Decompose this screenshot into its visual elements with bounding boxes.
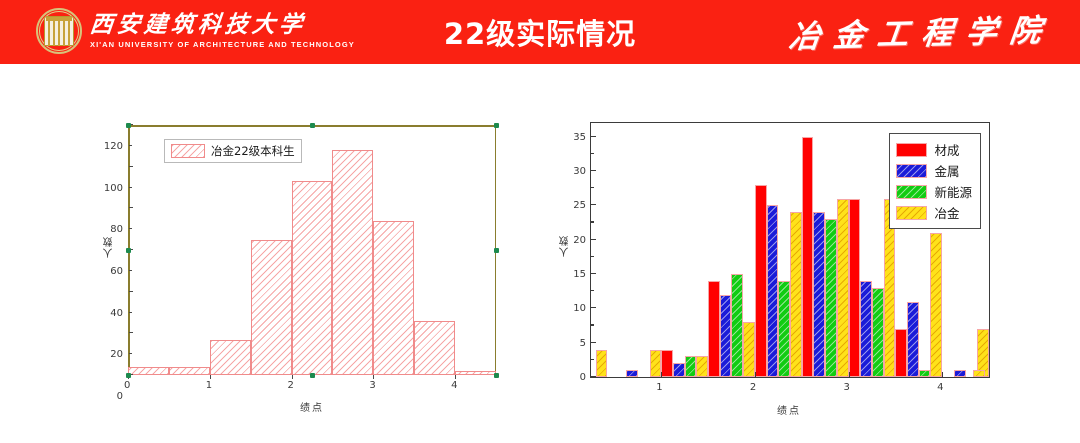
left-chart-y-tick-label: 20 bbox=[110, 349, 123, 360]
left-chart-y-tick bbox=[129, 166, 133, 167]
right-chart-legend-item: 材成 bbox=[896, 140, 972, 159]
right-chart-bar bbox=[743, 322, 755, 377]
left-chart-bar bbox=[455, 371, 496, 375]
right-chart-bar bbox=[973, 370, 985, 377]
right-chart-y-tick bbox=[591, 136, 596, 137]
right-chart-bar bbox=[837, 199, 849, 377]
right-chart-legend-item: 冶金 bbox=[896, 203, 972, 222]
chart-selection-handle[interactable] bbox=[310, 123, 315, 128]
right-chart-y-tick-label: 35 bbox=[570, 132, 586, 143]
left-histogram-chart: 人数 冶金22级本科生 绩点 02040608010012001234 bbox=[100, 110, 510, 410]
left-chart-x-tick-label: 4 bbox=[451, 380, 457, 391]
right-chart-x-tick-label: 2 bbox=[750, 382, 756, 393]
right-chart-x-tick bbox=[942, 372, 943, 377]
left-chart-y-minor-tick bbox=[129, 187, 132, 188]
left-chart-y-minor-tick bbox=[129, 270, 132, 271]
right-chart-y-minor-tick bbox=[591, 290, 594, 291]
left-chart-y-tick-label: 60 bbox=[110, 266, 123, 277]
right-chart-bar bbox=[708, 281, 720, 377]
university-name-cn: 西安建筑科技大学 bbox=[89, 13, 356, 36]
right-chart-bar bbox=[802, 137, 814, 377]
left-chart-bar bbox=[292, 181, 333, 375]
left-chart-y-tick-label: 40 bbox=[110, 308, 123, 319]
right-chart-legend: 材成金属新能源冶金 bbox=[889, 133, 981, 229]
right-chart-bar bbox=[954, 370, 966, 377]
right-chart-bar bbox=[813, 212, 825, 377]
right-chart-bar bbox=[720, 295, 732, 377]
left-chart-x-tick bbox=[455, 375, 456, 379]
left-chart-y-tick bbox=[129, 207, 133, 208]
right-chart-y-minor-tick bbox=[591, 256, 594, 257]
left-chart-x-tick-label: 0 bbox=[124, 380, 130, 391]
right-chart-y-tick-label: 15 bbox=[570, 269, 586, 280]
left-chart-y-tick-label: 120 bbox=[104, 141, 123, 152]
left-chart-y-minor-tick bbox=[129, 145, 132, 146]
right-chart-bar bbox=[731, 274, 743, 377]
left-chart-x-tick bbox=[210, 375, 211, 379]
right-chart-bar bbox=[661, 350, 673, 377]
right-chart-y-tick bbox=[591, 170, 596, 171]
right-chart-x-tick-label: 1 bbox=[656, 382, 662, 393]
left-chart-x-tick-label: 2 bbox=[288, 380, 294, 391]
university-logo: 西安建筑科技大学 XI'AN UNIVERSITY OF ARCHITECTUR… bbox=[36, 8, 355, 54]
right-chart-x-tick bbox=[661, 372, 662, 377]
left-chart-x-tick-label: 3 bbox=[369, 380, 375, 391]
left-chart-bar bbox=[251, 240, 292, 375]
left-chart-bar bbox=[128, 367, 169, 375]
right-chart-plot-area: 材成金属新能源冶金 bbox=[590, 122, 990, 378]
left-chart-bar bbox=[414, 321, 455, 375]
right-chart-legend-swatch bbox=[896, 185, 927, 199]
right-chart-bar bbox=[825, 219, 837, 377]
right-chart-x-axis-label: 绩点 bbox=[590, 402, 988, 417]
right-chart-legend-label: 新能源 bbox=[934, 182, 972, 201]
chart-selection-handle[interactable] bbox=[494, 248, 499, 253]
left-chart-y-minor-tick bbox=[129, 228, 132, 229]
right-chart-bar bbox=[650, 350, 662, 377]
right-chart-bar bbox=[919, 370, 931, 377]
right-chart-legend-label: 材成 bbox=[934, 140, 959, 159]
right-chart-y-minor-tick bbox=[591, 324, 594, 325]
right-chart-y-minor-tick bbox=[591, 153, 594, 154]
left-chart-y-tick-label: 80 bbox=[110, 224, 123, 235]
left-chart-y-tick-label: 100 bbox=[104, 183, 123, 194]
right-chart-bar bbox=[767, 205, 779, 377]
chart-selection-handle[interactable] bbox=[310, 373, 315, 378]
left-chart-x-tick-label: 1 bbox=[206, 380, 212, 391]
right-chart-y-tick-label: 30 bbox=[570, 166, 586, 177]
right-chart-legend-item: 金属 bbox=[896, 161, 972, 180]
right-chart-y-minor-tick bbox=[591, 359, 594, 360]
left-chart-legend: 冶金22级本科生 bbox=[164, 139, 302, 163]
right-chart-bar bbox=[849, 199, 861, 377]
right-chart-legend-swatch bbox=[896, 164, 927, 178]
right-chart-bar bbox=[596, 350, 608, 377]
right-chart-bar bbox=[860, 281, 872, 377]
right-chart-bar bbox=[673, 363, 685, 377]
left-chart-x-tick bbox=[373, 375, 374, 379]
left-chart-x-axis-label: 绩点 bbox=[128, 399, 496, 414]
right-chart-y-minor-tick bbox=[591, 187, 594, 188]
right-chart-bar bbox=[930, 233, 942, 377]
right-chart-y-tick-label: 5 bbox=[570, 338, 586, 349]
left-chart-bar bbox=[332, 150, 373, 375]
left-chart-y-tick-label: 0 bbox=[117, 391, 123, 402]
right-chart-legend-label: 冶金 bbox=[934, 203, 959, 222]
right-chart-y-tick bbox=[591, 376, 596, 377]
right-chart-bar bbox=[907, 302, 919, 378]
chart-selection-handle[interactable] bbox=[126, 123, 131, 128]
right-chart-y-tick bbox=[591, 342, 596, 343]
right-chart-y-minor-tick bbox=[591, 221, 594, 222]
crest-building-icon bbox=[44, 16, 74, 46]
university-crest-icon bbox=[36, 8, 82, 54]
right-chart-bar bbox=[790, 212, 802, 377]
right-chart-legend-label: 金属 bbox=[934, 161, 959, 180]
right-chart-y-tick bbox=[591, 273, 596, 274]
left-chart-legend-swatch bbox=[171, 144, 205, 158]
right-chart-bar bbox=[685, 356, 697, 377]
left-chart-y-tick bbox=[129, 291, 133, 292]
left-chart-plot-area: 冶金22级本科生 bbox=[128, 125, 496, 375]
right-chart-y-tick-label: 20 bbox=[570, 235, 586, 246]
left-chart-y-axis-label: 人数 bbox=[102, 236, 117, 258]
right-chart-y-tick-label: 25 bbox=[570, 200, 586, 211]
right-chart-bar bbox=[778, 281, 790, 377]
right-chart-y-tick-label: 10 bbox=[570, 303, 586, 314]
right-chart-y-tick bbox=[591, 307, 596, 308]
university-name-en: XI'AN UNIVERSITY OF ARCHITECTURE AND TEC… bbox=[90, 41, 355, 49]
right-chart-legend-swatch bbox=[896, 206, 927, 220]
right-chart-bar bbox=[895, 329, 907, 377]
right-chart-y-tick-label: 0 bbox=[570, 372, 586, 383]
chart-selection-handle[interactable] bbox=[494, 123, 499, 128]
right-chart-bar bbox=[755, 185, 767, 377]
chart-selection-handle[interactable] bbox=[494, 373, 499, 378]
left-chart-y-minor-tick bbox=[129, 312, 132, 313]
left-chart-bar bbox=[210, 340, 251, 375]
right-chart-x-tick-label: 4 bbox=[937, 382, 943, 393]
school-name: 冶金工程学院 bbox=[787, 5, 1057, 57]
right-chart-bar bbox=[872, 288, 884, 377]
chart-selection-handle[interactable] bbox=[126, 373, 131, 378]
right-chart-bar bbox=[626, 370, 638, 377]
left-chart-x-tick bbox=[292, 375, 293, 379]
right-chart-y-tick bbox=[591, 239, 596, 240]
left-chart-bar bbox=[169, 367, 210, 375]
right-chart-x-tick-label: 3 bbox=[844, 382, 850, 393]
left-chart-y-tick bbox=[129, 332, 133, 333]
right-chart-legend-swatch bbox=[896, 143, 927, 157]
university-name-block: 西安建筑科技大学 XI'AN UNIVERSITY OF ARCHITECTUR… bbox=[90, 13, 355, 49]
right-chart-y-tick bbox=[591, 204, 596, 205]
chart-selection-handle[interactable] bbox=[126, 248, 131, 253]
right-chart-x-tick bbox=[755, 372, 756, 377]
left-chart-legend-label: 冶金22级本科生 bbox=[211, 143, 295, 159]
right-chart-legend-item: 新能源 bbox=[896, 182, 972, 201]
right-chart-x-tick bbox=[849, 372, 850, 377]
header-banner: 西安建筑科技大学 XI'AN UNIVERSITY OF ARCHITECTUR… bbox=[0, 0, 1080, 64]
left-chart-bar bbox=[373, 221, 414, 375]
left-chart-y-minor-tick bbox=[129, 353, 132, 354]
right-chart-bar bbox=[696, 356, 708, 377]
right-grouped-bar-chart: 人数 材成金属新能源冶金 绩点 051015202530351234 bbox=[556, 110, 1016, 410]
